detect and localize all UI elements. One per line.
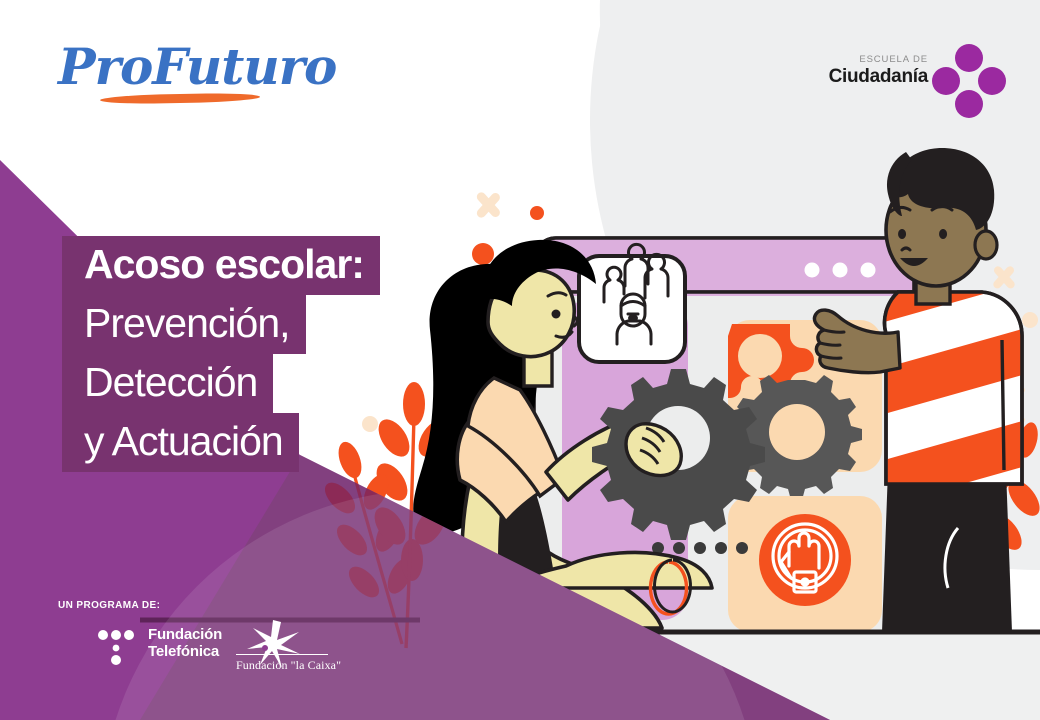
title-line-1: Acoso escolar: [62,236,380,295]
escuela-name: Ciudadanía [829,66,928,88]
escuela-eyebrow: ESCUELA DE [859,54,928,65]
four-circle-flower-icon [932,44,1006,118]
fundacion-telefonica-label: FundaciónTelefónica [148,626,222,660]
title-line-4: y Actuación [62,413,299,472]
sponsors-label: UN PROGRAMA DE: [58,600,160,611]
group-bullying-icon-card [579,244,685,362]
window-dots [805,263,876,278]
profuturo-wordmark: ProFuturo [58,38,358,96]
lacaixa-label: Fundación "la Caixa" [236,658,341,673]
telefonica-dots-icon [96,628,136,668]
profuturo-logo: ProFuturo [58,38,358,110]
escuela-ciudadania-logo: ESCUELA DE Ciudadanía [840,46,1000,106]
title-line-2: Prevención, [62,295,306,354]
lacaixa-rule [236,654,328,655]
page-title: Acoso escolar: Prevención, Detección y A… [62,236,482,472]
cover-slide: ProFuturo ESCUELA DE Ciudadanía Acoso es… [0,0,1040,720]
sponsors-block: UN PROGRAMA DE: FundaciónTelefónica Fund… [58,600,358,680]
cross-sparkle-icon [475,191,502,220]
title-line-3: Detección [62,354,273,413]
